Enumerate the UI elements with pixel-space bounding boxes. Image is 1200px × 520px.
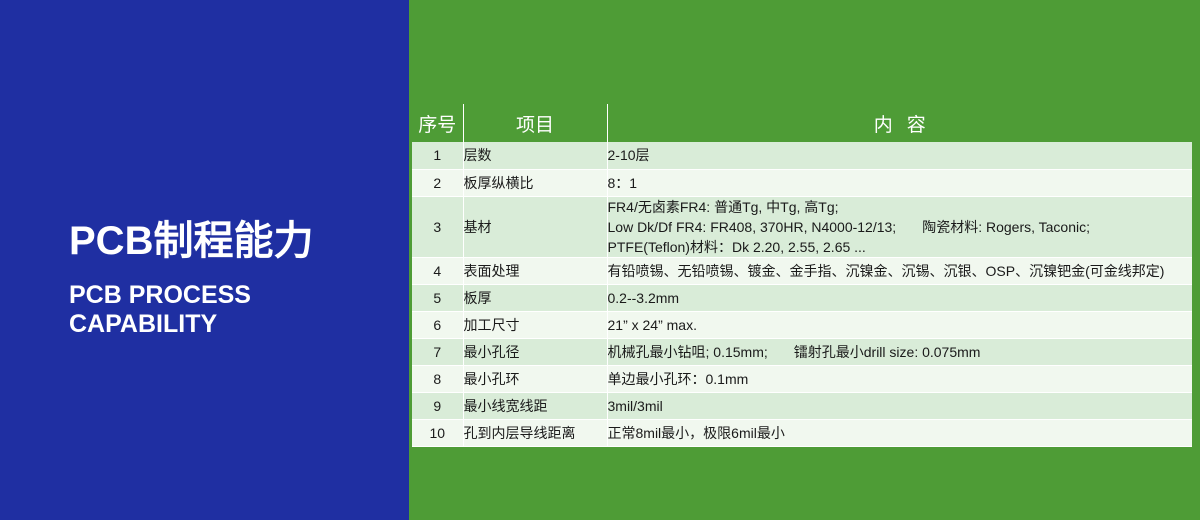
row-item: 板厚 [463,284,607,311]
row-no: 10 [412,419,463,446]
row-item: 加工尺寸 [463,311,607,338]
row-content: FR4/无卤素FR4: 普通Tg, 中Tg, 高Tg; Low Dk/Df FR… [607,196,1192,257]
slide-canvas: PCB制程能力 PCB PROCESS CAPABILITY 序号 项目 内容 [0,0,1200,520]
content-line: 2-10层 [608,145,1193,165]
row-content: 8：1 [607,169,1192,196]
row-content: 有铅喷锡、无铅喷锡、镀金、金手指、沉镍金、沉锡、沉银、OSP、沉镍钯金(可金线邦… [607,257,1192,284]
content-line: 8：1 [608,173,1193,193]
table-row: 5 板厚 0.2--3.2mm [412,284,1192,311]
row-no: 1 [412,142,463,169]
row-no: 4 [412,257,463,284]
table-row: 8 最小孔环 单边最小孔环：0.1mm [412,365,1192,392]
spec-table-container: 序号 项目 内容 1 层数 2-10层 2 板厚纵横比 8：1 [412,104,1192,445]
table-row: 7 最小孔径 机械孔最小钻咀; 0.15mm;镭射孔最小drill size: … [412,338,1192,365]
column-header-content: 内容 [607,104,1192,142]
row-no: 5 [412,284,463,311]
spec-table-header: 序号 项目 内容 [412,104,1192,142]
row-item: 板厚纵横比 [463,169,607,196]
row-item: 最小孔环 [463,365,607,392]
spec-table-body: 1 层数 2-10层 2 板厚纵横比 8：1 3 基材 [412,142,1192,446]
table-row: 6 加工尺寸 21” x 24” max. [412,311,1192,338]
row-no: 9 [412,392,463,419]
page-title-cn: PCB制程能力 [69,218,399,264]
row-item: 层数 [463,142,607,169]
row-content: 2-10层 [607,142,1192,169]
row-no: 3 [412,196,463,257]
content-line: PTFE(Teflon)材料：Dk 2.20, 2.55, 2.65 ... [608,237,1193,257]
table-row: 10 孔到内层导线距离 正常8mil最小，极限6mil最小 [412,419,1192,446]
row-no: 2 [412,169,463,196]
column-header-item: 项目 [463,104,607,142]
page-subtitle-en: PCB PROCESS CAPABILITY [69,281,399,339]
table-row: 3 基材 FR4/无卤素FR4: 普通Tg, 中Tg, 高Tg; Low Dk/… [412,196,1192,257]
row-content: 正常8mil最小，极限6mil最小 [607,419,1192,446]
content-line: Low Dk/Df FR4: FR408, 370HR, N4000-12/13… [608,217,1193,237]
content-line: 机械孔最小钻咀; 0.15mm;镭射孔最小drill size: 0.075mm [608,342,1193,362]
table-row: 2 板厚纵横比 8：1 [412,169,1192,196]
row-no: 7 [412,338,463,365]
content-line: 有铅喷锡、无铅喷锡、镀金、金手指、沉镍金、沉锡、沉银、OSP、沉镍钯金(可金线邦… [608,261,1193,281]
row-item: 最小线宽线距 [463,392,607,419]
content-line: 3mil/3mil [608,396,1193,416]
content-line: 正常8mil最小，极限6mil最小 [608,423,1193,443]
row-item: 基材 [463,196,607,257]
spec-table: 序号 项目 内容 1 层数 2-10层 2 板厚纵横比 8：1 [412,104,1192,447]
row-content: 机械孔最小钻咀; 0.15mm;镭射孔最小drill size: 0.075mm [607,338,1192,365]
row-no: 6 [412,311,463,338]
row-item: 表面处理 [463,257,607,284]
content-line: 单边最小孔环：0.1mm [608,369,1193,389]
table-row: 4 表面处理 有铅喷锡、无铅喷锡、镀金、金手指、沉镍金、沉锡、沉银、OSP、沉镍… [412,257,1192,284]
title-block: PCB制程能力 PCB PROCESS CAPABILITY [69,218,399,339]
row-item: 最小孔径 [463,338,607,365]
row-no: 8 [412,365,463,392]
column-header-no: 序号 [412,104,463,142]
row-item: 孔到内层导线距离 [463,419,607,446]
page-subtitle-line2: CAPABILITY [69,310,399,339]
content-line: 21” x 24” max. [608,315,1193,335]
row-content: 3mil/3mil [607,392,1192,419]
content-line: FR4/无卤素FR4: 普通Tg, 中Tg, 高Tg; [608,197,1193,217]
header-row: 序号 项目 内容 [412,104,1192,142]
table-row: 1 层数 2-10层 [412,142,1192,169]
row-content: 21” x 24” max. [607,311,1192,338]
table-row: 9 最小线宽线距 3mil/3mil [412,392,1192,419]
content-line: 0.2--3.2mm [608,288,1193,308]
page-subtitle-line1: PCB PROCESS [69,281,399,310]
title-panel: PCB制程能力 PCB PROCESS CAPABILITY [0,0,409,520]
row-content: 单边最小孔环：0.1mm [607,365,1192,392]
row-content: 0.2--3.2mm [607,284,1192,311]
